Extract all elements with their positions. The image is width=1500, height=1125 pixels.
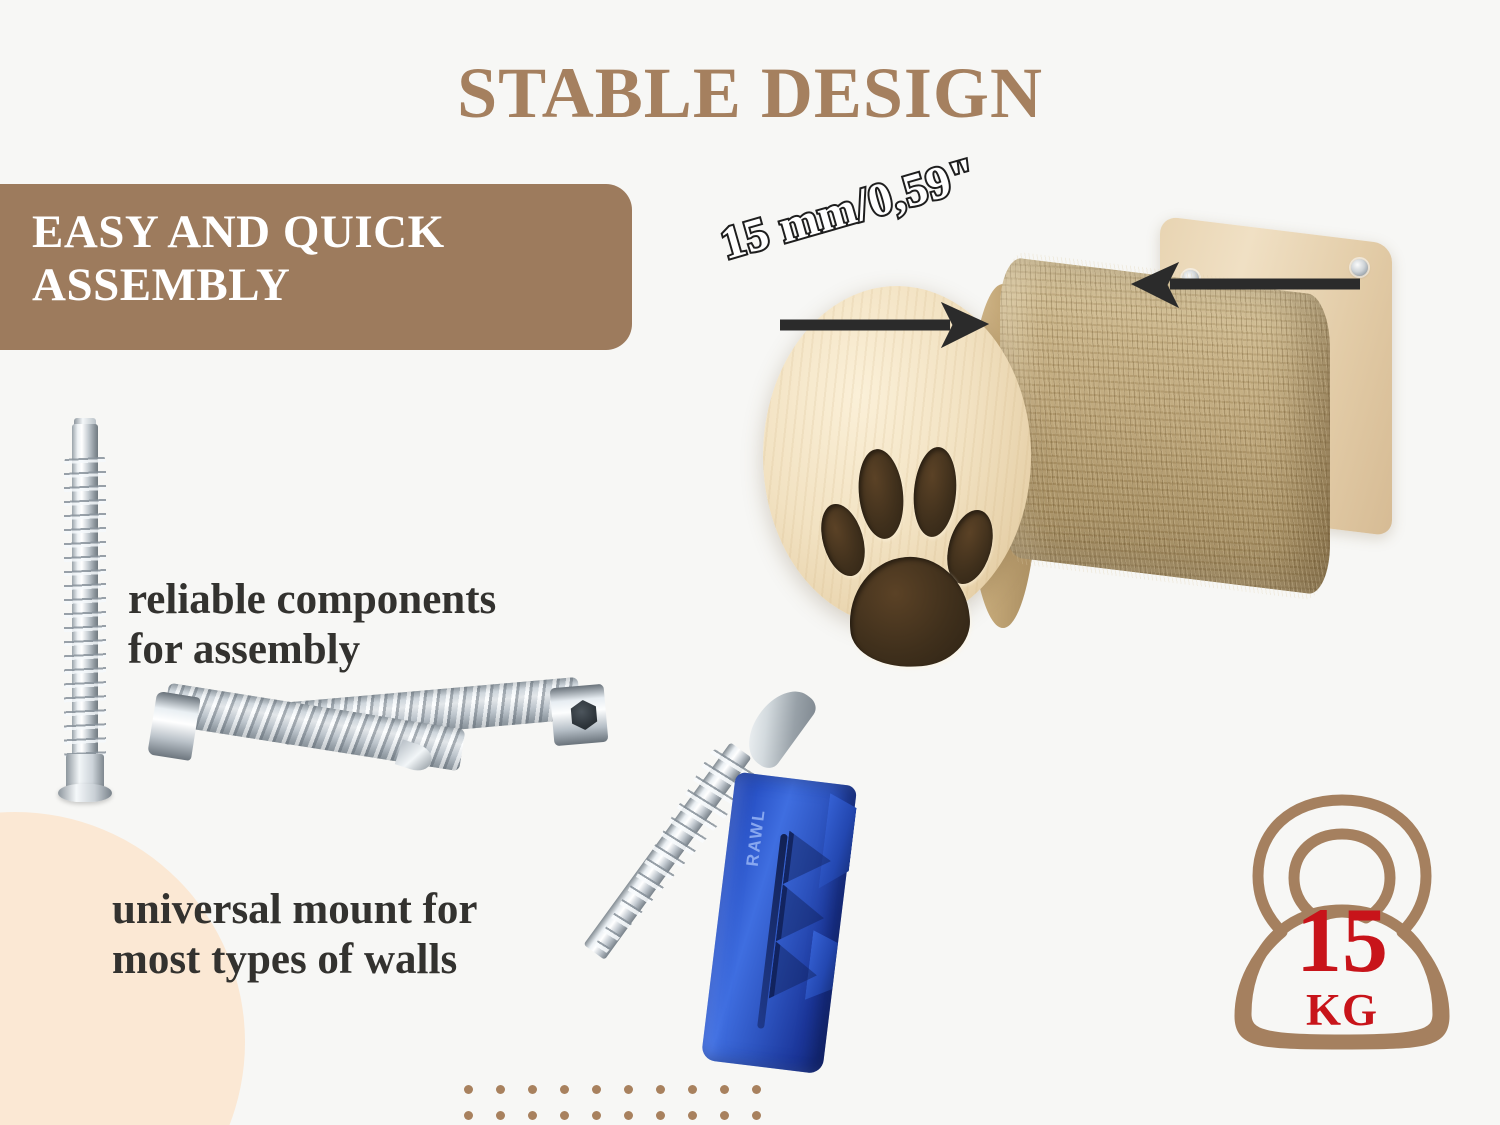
caption-line-1: reliable components [128,575,496,625]
weight-value: 15 [1212,894,1472,986]
decor-dot [464,1111,473,1120]
caption-line-2: for assembly [128,625,496,675]
decor-dot [560,1111,569,1120]
weight-capacity-badge: 15 KG [1212,782,1500,1082]
caption-line-1: universal mount for [112,885,478,935]
paw-toe-pad [854,447,907,541]
decor-dot [624,1111,633,1120]
decor-dot [720,1111,729,1120]
badge-line-2: ASSEMBLY [32,259,632,312]
easy-assembly-badge: EASY AND QUICK ASSEMBLY [0,184,632,350]
decor-dot [752,1085,761,1094]
paw-print-cutout [821,431,1021,671]
paw-toe-pad [910,445,960,538]
decor-dot [592,1085,601,1094]
decor-dot [496,1085,505,1094]
decor-dot [688,1111,697,1120]
long-anchor-bolt [60,424,110,804]
decor-dot [656,1111,665,1120]
badge-line-1: EASY AND QUICK [32,206,632,259]
bolt-flange [58,784,112,802]
decor-dot [656,1085,665,1094]
reliable-components-caption: reliable components for assembly [128,575,496,675]
confirmat-screw-pair [160,688,610,838]
bolt-threads [64,450,106,766]
universal-mount-caption: universal mount for most types of walls [112,885,478,985]
decor-dot [688,1085,697,1094]
caption-line-2: most types of walls [112,935,478,985]
weight-unit: KG [1212,988,1472,1033]
decor-dot [528,1111,537,1120]
decor-dot [496,1111,505,1120]
decor-dot [720,1085,729,1094]
decor-dot [624,1085,633,1094]
decor-dot [560,1085,569,1094]
decor-dot [752,1111,761,1120]
dot-grid-decoration [452,1076,772,1125]
dimension-arrows [770,255,1370,350]
decor-dot [592,1111,601,1120]
page-title: STABLE DESIGN [0,52,1500,135]
decor-dot [464,1085,473,1094]
infographic-canvas: STABLE DESIGN EASY AND QUICK ASSEMBLY re… [0,0,1500,1125]
decor-dot [528,1085,537,1094]
round-screw-head [147,691,200,761]
